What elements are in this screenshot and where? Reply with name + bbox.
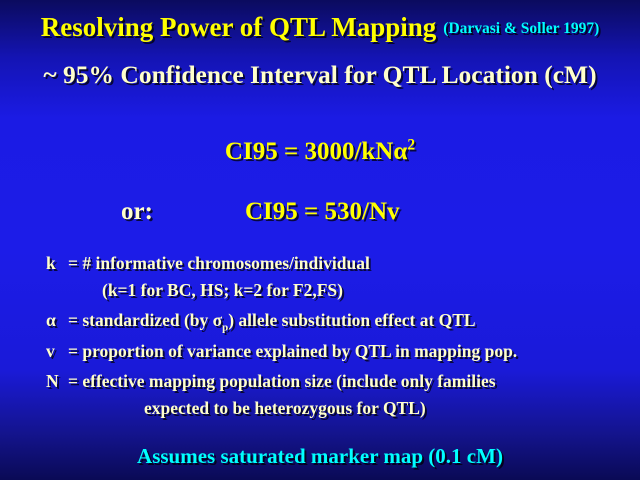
formula-ci95-v-row: or:CI95 = 530/Nv: [0, 198, 640, 226]
definition-text: (k=1 for BC, HS; k=2 for F2,FS): [46, 280, 343, 300]
definition-line-N-cont: expected to be heterozygous for QTL): [0, 400, 640, 418]
formula-2-group: or:CI95 = 530/Nv: [105, 198, 535, 226]
definition-row: expected to be heterozygous for QTL): [46, 400, 594, 418]
definition-text: = # informative chromosomes/individual: [68, 253, 370, 273]
definition-row: k= # informative chromosomes/individual: [46, 255, 594, 273]
alpha-symbol: α: [393, 138, 407, 165]
definition-symbol: v: [46, 343, 68, 361]
slide-footer-note: Assumes saturated marker map (0.1 cM): [0, 444, 640, 469]
definition-text: = effective mapping population size (inc…: [68, 371, 496, 391]
title-main-text: Resolving Power of QTL Mapping: [41, 12, 437, 42]
definition-line-v: v= proportion of variance explained by Q…: [0, 343, 640, 361]
formula-2-expression: CI95 = 530/Nv: [245, 198, 400, 225]
formula-1-lhs: CI95 = 3000/kN: [225, 138, 393, 165]
definition-symbol: k: [46, 255, 68, 273]
definition-row: N= effective mapping population size (in…: [46, 373, 594, 391]
definition-row: v= proportion of variance explained by Q…: [46, 343, 594, 361]
alpha-exponent: 2: [407, 137, 415, 154]
definition-line-N: N= effective mapping population size (in…: [0, 373, 640, 391]
slide-title: Resolving Power of QTL Mapping(Darvasi &…: [0, 12, 640, 43]
definition-text: = proportion of variance explained by QT…: [68, 341, 517, 361]
title-citation-text: (Darvasi & Soller 1997): [443, 20, 599, 37]
definition-row: (k=1 for BC, HS; k=2 for F2,FS): [46, 282, 594, 300]
definition-row: α= standardized (by σp) allele substitut…: [46, 312, 594, 330]
slide-canvas: Resolving Power of QTL Mapping(Darvasi &…: [0, 0, 640, 480]
definition-line-k-values: (k=1 for BC, HS; k=2 for F2,FS): [0, 282, 640, 300]
slide-subtitle: ~ 95% Confidence Interval for QTL Locati…: [0, 60, 640, 90]
definition-symbol: N: [46, 373, 68, 391]
definitions-block: k= # informative chromosomes/individual …: [0, 255, 640, 417]
definition-line-k: k= # informative chromosomes/individual: [0, 255, 640, 273]
definition-text-after: ) allele substitution effect at QTL: [228, 310, 475, 330]
definition-line-alpha: α= standardized (by σp) allele substitut…: [0, 312, 640, 330]
or-label: or:: [105, 198, 245, 226]
formula-ci95-alpha: CI95 = 3000/kNα2: [0, 138, 640, 166]
formula-1-expression: CI95 = 3000/kNα2: [225, 138, 415, 165]
definition-symbol: α: [46, 312, 68, 330]
definition-text: expected to be heterozygous for QTL): [46, 398, 426, 418]
definition-text-before: = standardized (by σ: [68, 310, 222, 330]
